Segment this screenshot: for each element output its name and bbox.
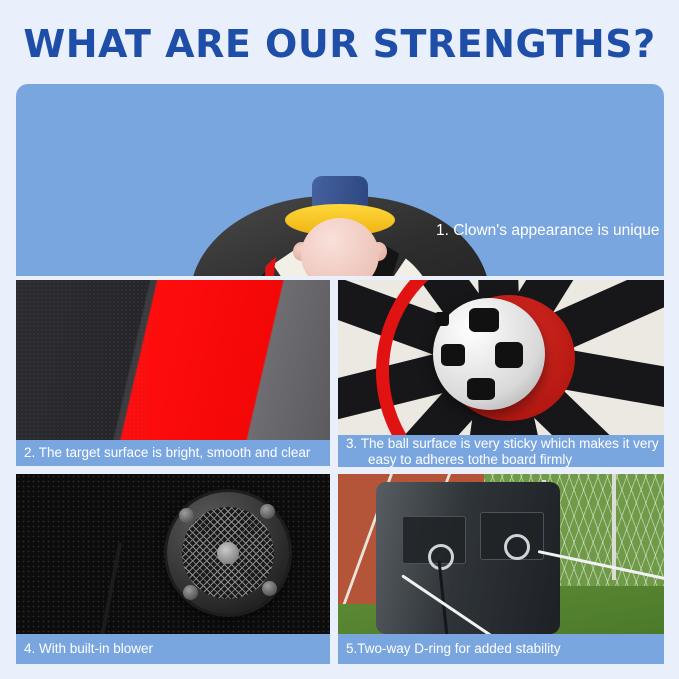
feature-panel-1: 12 5 20 1 18 ✦ ✦ 1. Clown's appearance i…	[16, 84, 664, 276]
blower-hub	[217, 542, 239, 564]
feature-panel-2	[16, 280, 330, 440]
feature-caption-1: 1. Clown's appearance is unique	[436, 222, 660, 240]
fabric-texture-overlay	[16, 280, 148, 440]
blower-bolt	[183, 585, 198, 600]
page-title: WHAT ARE OUR STRENGTHS?	[0, 22, 679, 66]
feature-caption-5: 5.Two-way D-ring for added stability	[338, 634, 664, 664]
feature-caption-3-line1: 3. The ball surface is very sticky which…	[346, 436, 659, 452]
clown-head-graphic: ✦ ✦	[265, 176, 415, 276]
blower-bolt	[260, 504, 275, 519]
product-feature-infographic: WHAT ARE OUR STRENGTHS? 12 5 20 1 18	[0, 0, 679, 679]
inflatable-base	[376, 482, 560, 634]
blower-bolt	[262, 581, 277, 596]
feature-panel-5	[338, 474, 664, 634]
fence-post	[612, 474, 616, 580]
feature-panel-4	[16, 474, 330, 634]
base-black-cord	[438, 560, 450, 634]
soccer-ball	[433, 298, 545, 410]
feature-panel-3	[338, 280, 664, 435]
feature-caption-3: 3. The ball surface is very sticky which…	[338, 435, 664, 467]
feature-caption-4: 4. With built-in blower	[16, 634, 330, 664]
built-in-blower-grille	[167, 492, 289, 614]
d-ring-left	[428, 544, 454, 570]
feature-caption-3-line2: easy to adheres tothe board firmly	[346, 452, 659, 468]
feature-caption-2: 2. The target surface is bright, smooth …	[16, 440, 330, 466]
blower-bolt	[179, 508, 194, 523]
dartboard-closeup-graphic	[338, 280, 664, 435]
